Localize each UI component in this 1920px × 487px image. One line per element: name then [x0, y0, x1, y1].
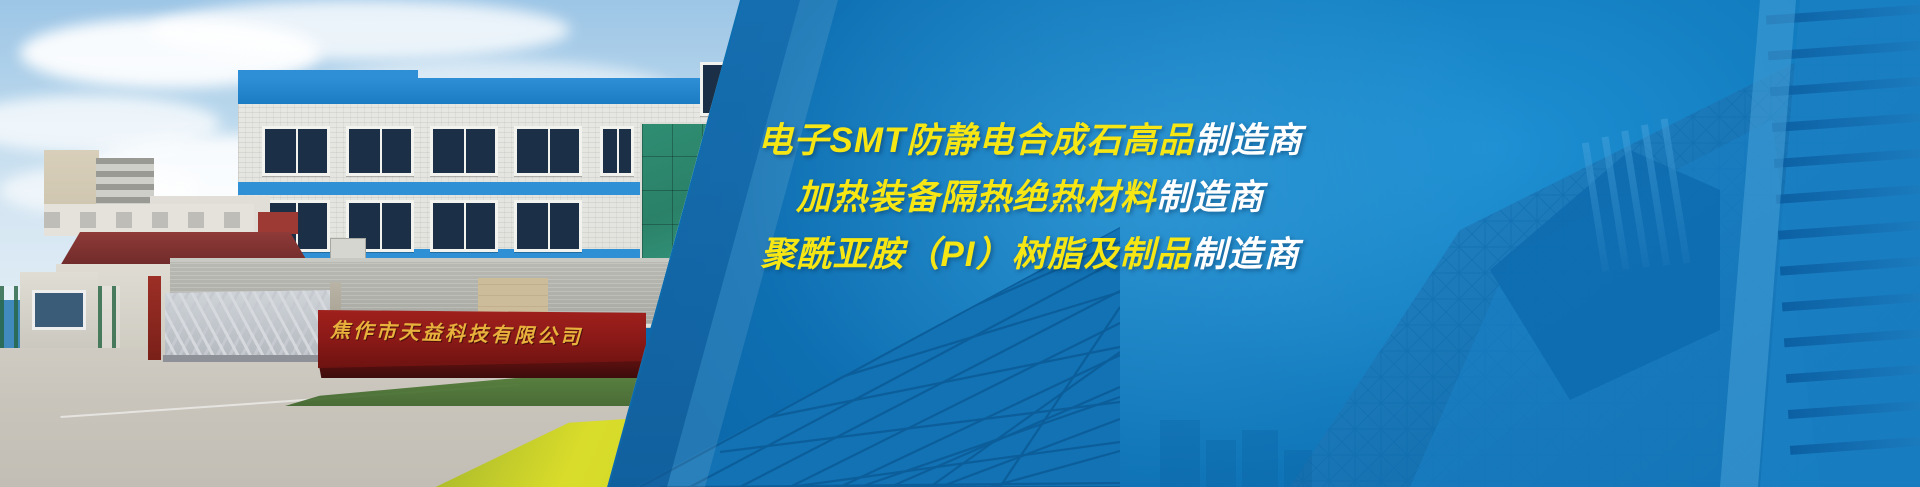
headline-line-3-highlight: 聚酰亚胺（PI）树脂及制品	[760, 235, 1191, 274]
blue-roof-band	[238, 78, 778, 104]
gate-rail	[163, 355, 343, 362]
window	[430, 200, 498, 252]
headline-line-1-plain: 制造商	[1194, 121, 1302, 160]
company-hero-banner: 焦作市天益科技有限公司 电子SMT防静电合成石高品制造商 加热装备隔热绝热材料制…	[0, 0, 1920, 487]
parapet	[44, 204, 254, 236]
window	[430, 126, 498, 176]
headline-block: 电子SMT防静电合成石高品制造商 加热装备隔热绝热材料制造商 聚酰亚胺（PI）树…	[690, 112, 1370, 283]
headline-line-2-highlight: 加热装备隔热绝热材料	[796, 178, 1156, 217]
window	[514, 200, 582, 252]
headline-line-3: 聚酰亚胺（PI）树脂及制品制造商	[690, 226, 1370, 283]
gate-post-left	[148, 276, 161, 360]
window	[600, 126, 634, 176]
window	[262, 126, 330, 176]
headline-line-2: 加热装备隔热绝热材料制造商	[690, 169, 1370, 226]
stair-tower	[44, 150, 99, 210]
window	[514, 126, 582, 176]
red-accent-panel	[258, 212, 298, 234]
retractable-gate	[165, 290, 340, 362]
headline-line-1-highlight: 电子SMT防静电合成石高品	[758, 121, 1195, 160]
tower-louvres	[96, 158, 154, 210]
headline-line-1: 电子SMT防静电合成石高品制造商	[690, 112, 1370, 169]
headline-line-3-plain: 制造商	[1192, 235, 1300, 274]
guardhouse-window	[32, 290, 86, 330]
headline-line-2-plain: 制造商	[1156, 178, 1264, 217]
window	[346, 126, 414, 176]
